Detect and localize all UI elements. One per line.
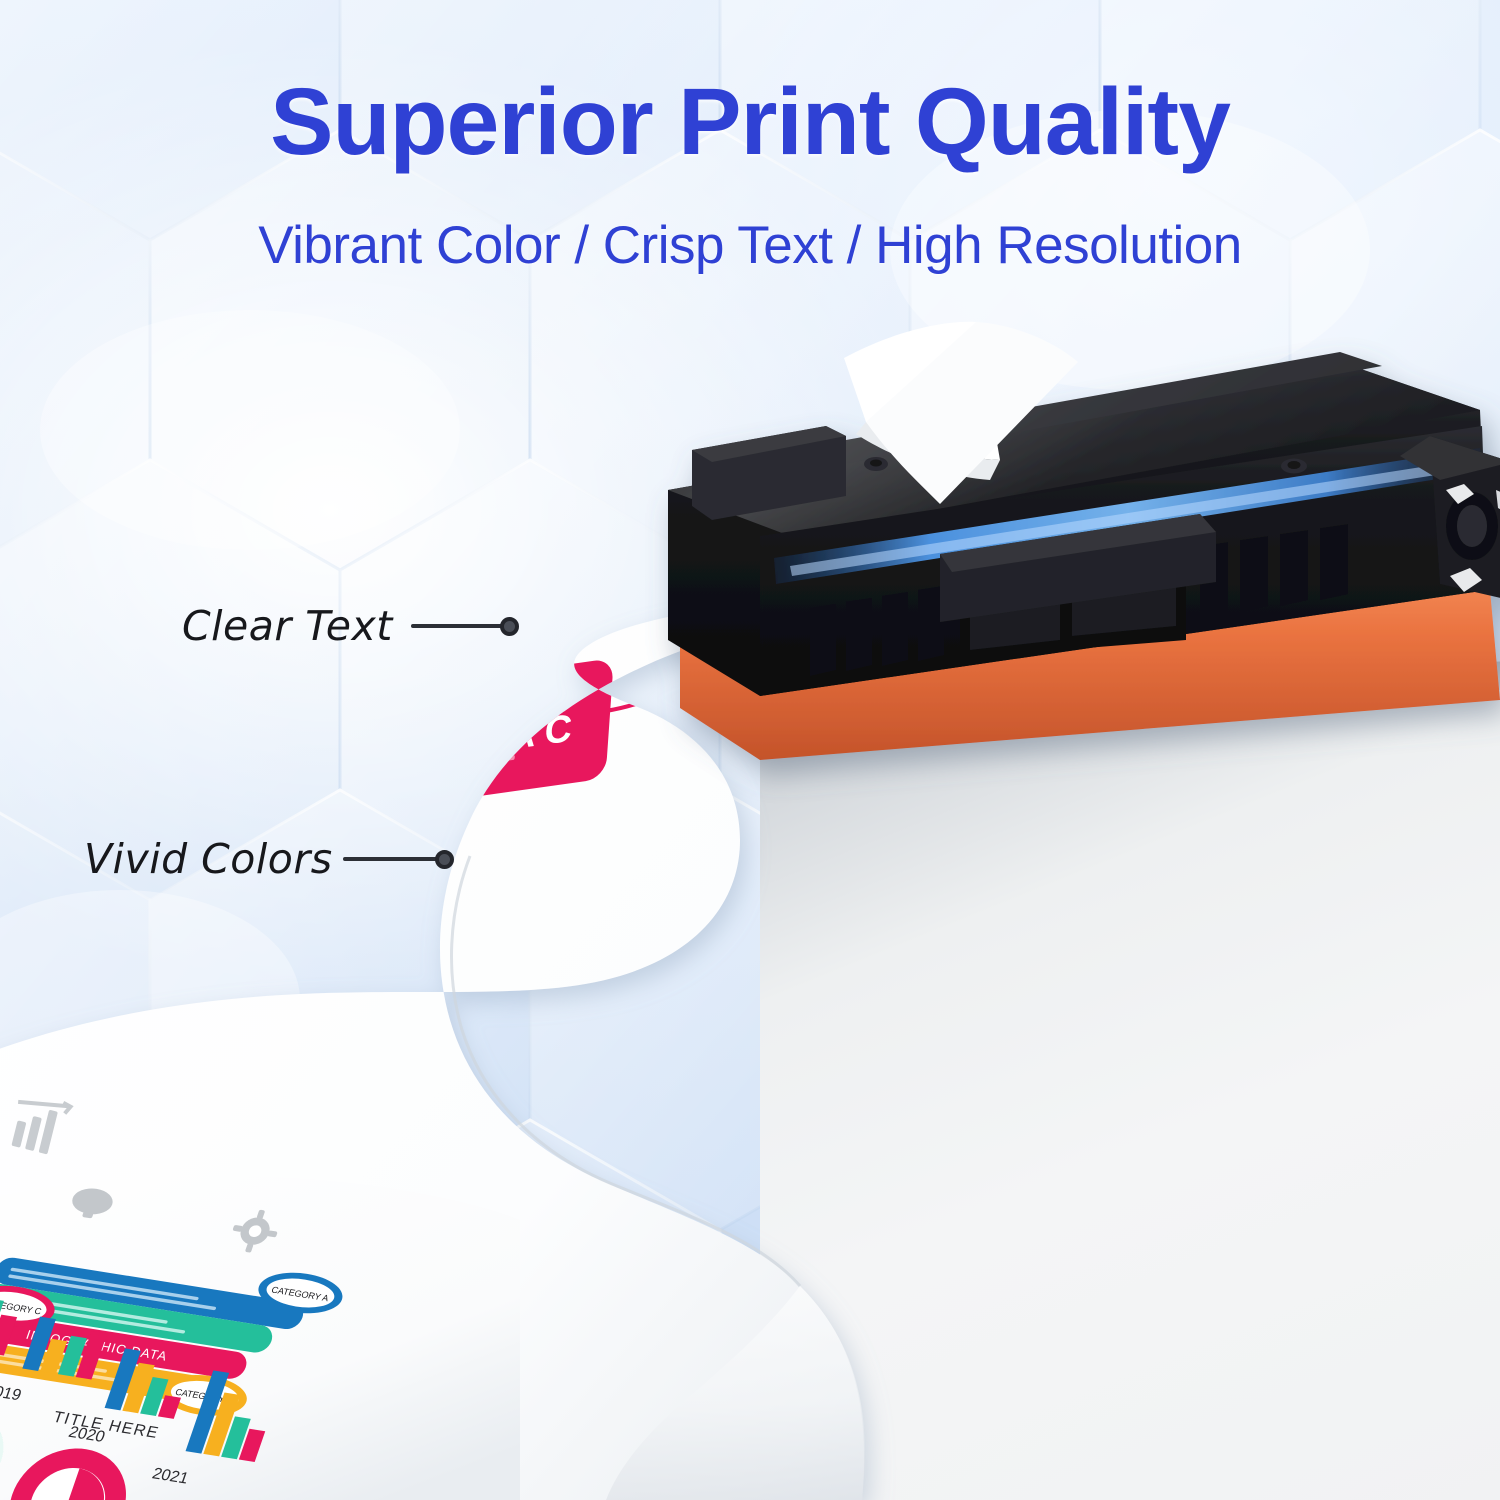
donut-chart-group: 75% 45% 65% xyxy=(0,621,56,910)
page-title: Superior Print Quality xyxy=(0,0,1500,170)
donut-value: 50% xyxy=(0,770,21,831)
printed-paper-secondary: CATEGORY A CATEGORY C IN xyxy=(0,1160,520,1500)
callout-label: Clear Text xyxy=(182,602,393,650)
leader-line-icon xyxy=(343,857,438,861)
header-block: Superior Print Quality Vibrant Color / C… xyxy=(0,0,1500,276)
leader-dot-icon xyxy=(435,850,454,869)
poster-stage: INFOGRAPHIC TITLE HERE DATA xyxy=(0,0,1500,1500)
leader-dot-icon xyxy=(500,617,519,636)
callout-clear-text: Clear Text xyxy=(182,602,519,650)
toner-cartridge xyxy=(640,340,1500,760)
donut-chart: 50% xyxy=(0,726,56,873)
printout-header-small: INFOGRAPHIC xyxy=(439,537,599,595)
leader-line-icon xyxy=(411,624,503,628)
page-subtitle: Vibrant Color / Crisp Text / High Resolu… xyxy=(0,170,1500,276)
callout-label: Vivid Colors xyxy=(84,835,333,883)
callout-vivid-colors: Vivid Colors xyxy=(84,835,454,883)
